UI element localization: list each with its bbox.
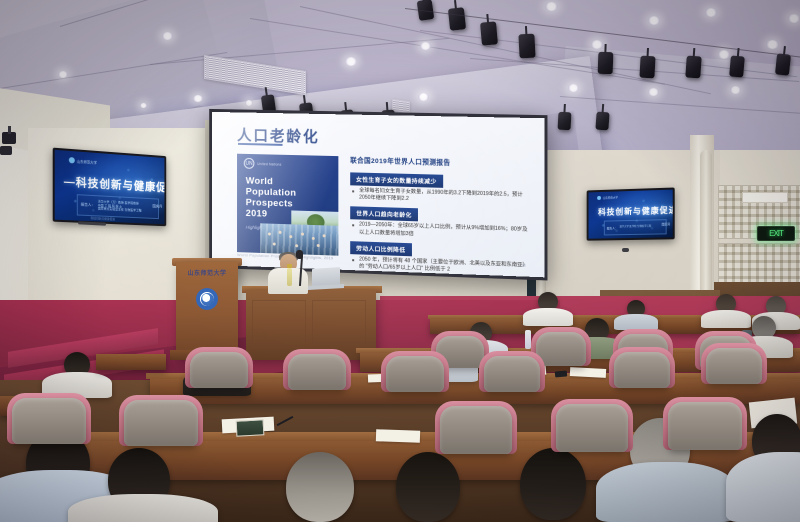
monitor-presenter-block: 报告人： 清华大学（万）教授 医学院教授 中国 工 程 院 院 士 国家重点实验… [77, 194, 159, 219]
stage-spotlight [685, 56, 701, 79]
ceiling-downlight [705, 8, 717, 17]
crest-inner [201, 293, 214, 306]
stage-spotlight [639, 56, 655, 79]
stage-spotlight [518, 34, 535, 59]
monitor-date: 国庆月 [152, 204, 162, 209]
audience-shoulders [614, 314, 658, 330]
air-conditioning-vent [392, 99, 410, 114]
audience-seat [668, 402, 742, 450]
podium-institution-text: 山东师范大学 [182, 268, 232, 277]
ceiling-downlight [648, 16, 660, 25]
monitor-logo-label: 山东师范大学 [77, 158, 97, 164]
ceiling-downlight [591, 40, 603, 49]
slide-page-number: 11 [522, 262, 526, 267]
ceiling-downlight [58, 71, 68, 78]
slide-section-band: 女性生育子女的数量持续减少 [350, 172, 443, 187]
audience-shoulders [523, 308, 573, 326]
audience-head [286, 452, 354, 522]
ceiling-downlight [718, 50, 730, 59]
audience-seat [614, 352, 670, 388]
audience-seat [484, 356, 540, 392]
un-logo: UN United Nations [244, 159, 304, 169]
ceiling-downlight [545, 2, 558, 11]
report-title-line-4: 2019 [246, 208, 297, 220]
report-title: World Population Prospects 2019 [246, 176, 297, 221]
slide-section-band: 劳动人口比例降低 [350, 241, 411, 256]
audience-seat [12, 398, 86, 444]
ceiling-downlight [648, 88, 659, 96]
stage-spotlight [729, 55, 745, 77]
stage-spotlight [775, 53, 791, 75]
camera-mount-bracket [8, 126, 11, 134]
ceiling-downlight [420, 42, 431, 50]
wall-plaque [742, 192, 788, 203]
monitor-presenter-label: 报告人： [607, 226, 618, 230]
monitor-date: 国庆月 [662, 222, 670, 226]
audience-shoulders [596, 462, 736, 522]
right-monitor-wall-mount [622, 248, 629, 252]
ceiling-downlight [418, 93, 429, 101]
audience-seat [124, 400, 198, 446]
left-wall-monitor: 山东师范大学 —科技创新与健康促进 报告人： 清华大学（万）教授 医学院教授 中… [53, 148, 167, 227]
smartphone[interactable] [555, 370, 567, 377]
stage-spotlight [598, 52, 614, 75]
ceiling-downlight [162, 32, 173, 40]
un-logo-label: United Nations [257, 162, 281, 167]
stage-spotlight [558, 112, 572, 131]
desk-front-panel [312, 300, 366, 346]
audience-seat [288, 354, 346, 390]
desk-front-panel [252, 300, 306, 346]
stage-spotlight [448, 7, 466, 31]
projection-screen: 人口老龄化 UN United Nations World Population… [212, 112, 544, 277]
ceiling-downlight [568, 84, 579, 92]
monitor-logo-label: 山东师范大学 [603, 195, 618, 199]
right-monitor-screen: 山东师范大学 科技创新与健康促进 报告人： 清华大学 医学院 生物医学工程 国庆… [589, 190, 673, 239]
ceiling-downlight [140, 103, 147, 108]
tablet-device[interactable] [236, 419, 265, 436]
slide-title-underline [238, 143, 283, 146]
ceiling-downlight [766, 40, 779, 49]
left-monitor-screen: 山东师范大学 —科技创新与健康促进 报告人： 清华大学（万）教授 医学院教授 中… [55, 150, 165, 224]
acoustic-panel-lower [718, 243, 800, 285]
water-bottle [287, 268, 292, 286]
wall-mounted-camera [0, 146, 12, 155]
ceiling-downlight [193, 95, 203, 102]
audience-shoulders [68, 494, 218, 522]
university-crest-icon [196, 288, 218, 310]
monitor-presenter-affiliation: 清华大学 医学院 生物医学工程 [619, 226, 651, 229]
audience-seat [440, 406, 512, 454]
monitor-logo: 山东师范大学 [597, 195, 618, 200]
ceiling-downlight [730, 86, 741, 94]
exit-sign-label: EXIT [769, 230, 783, 238]
side-desk [96, 354, 166, 370]
slide-bullet: 2019—2050年：全球65岁以上人口比例，预计从9%增加到16%；80岁及以… [350, 222, 528, 242]
auditorium-photo: EXIT 人口老龄化 UN United Nations World Popul… [0, 0, 800, 522]
audience-head [396, 452, 460, 522]
ceiling-downlight [245, 100, 253, 106]
audience-shoulders [726, 452, 800, 522]
audience-seat [386, 356, 444, 392]
microphone [296, 250, 303, 259]
logo-mark-icon [597, 196, 601, 200]
monitor-presenter-affiliation: 清华大学（万）教授 医学院教授 中国 工 程 院 院 士 国家重点实验室主任 生… [98, 201, 142, 213]
right-wall-monitor: 山东师范大学 科技创新与健康促进 报告人： 清华大学 医学院 生物医学工程 国庆… [587, 187, 675, 240]
audience-shoulders [701, 310, 751, 328]
exit-sign: EXIT [757, 226, 795, 241]
slide-section-band: 世界人口趋向老龄化 [350, 207, 418, 222]
ceiling-downlight [345, 57, 357, 66]
slide-heading: 联合国2019年世界人口预测报告 [350, 154, 528, 168]
monitor-title: 科技创新与健康促进 [598, 205, 673, 218]
report-cover-image: UN United Nations World Population Prosp… [237, 154, 338, 256]
un-emblem-icon: UN [244, 158, 255, 169]
stage-spotlight [595, 112, 609, 131]
logo-mark-icon [69, 157, 75, 164]
audience-seat [190, 352, 248, 388]
ceiling-downlight [788, 14, 800, 23]
monitor-presenter-block: 报告人： 清华大学 医学院 生物医学工程 [604, 219, 667, 235]
audience-head [520, 448, 586, 520]
audience-seat [556, 404, 628, 452]
monitor-presenter-label: 报告人： [81, 202, 95, 208]
slide-bullet: 全球每名妇女生育子女数量，从1990年的3.2下降到2019年的2.5，预计20… [350, 187, 528, 207]
paper-document [570, 367, 606, 378]
audience-seat [706, 348, 762, 384]
paper-document [376, 429, 420, 443]
stage-spotlight [480, 21, 498, 45]
